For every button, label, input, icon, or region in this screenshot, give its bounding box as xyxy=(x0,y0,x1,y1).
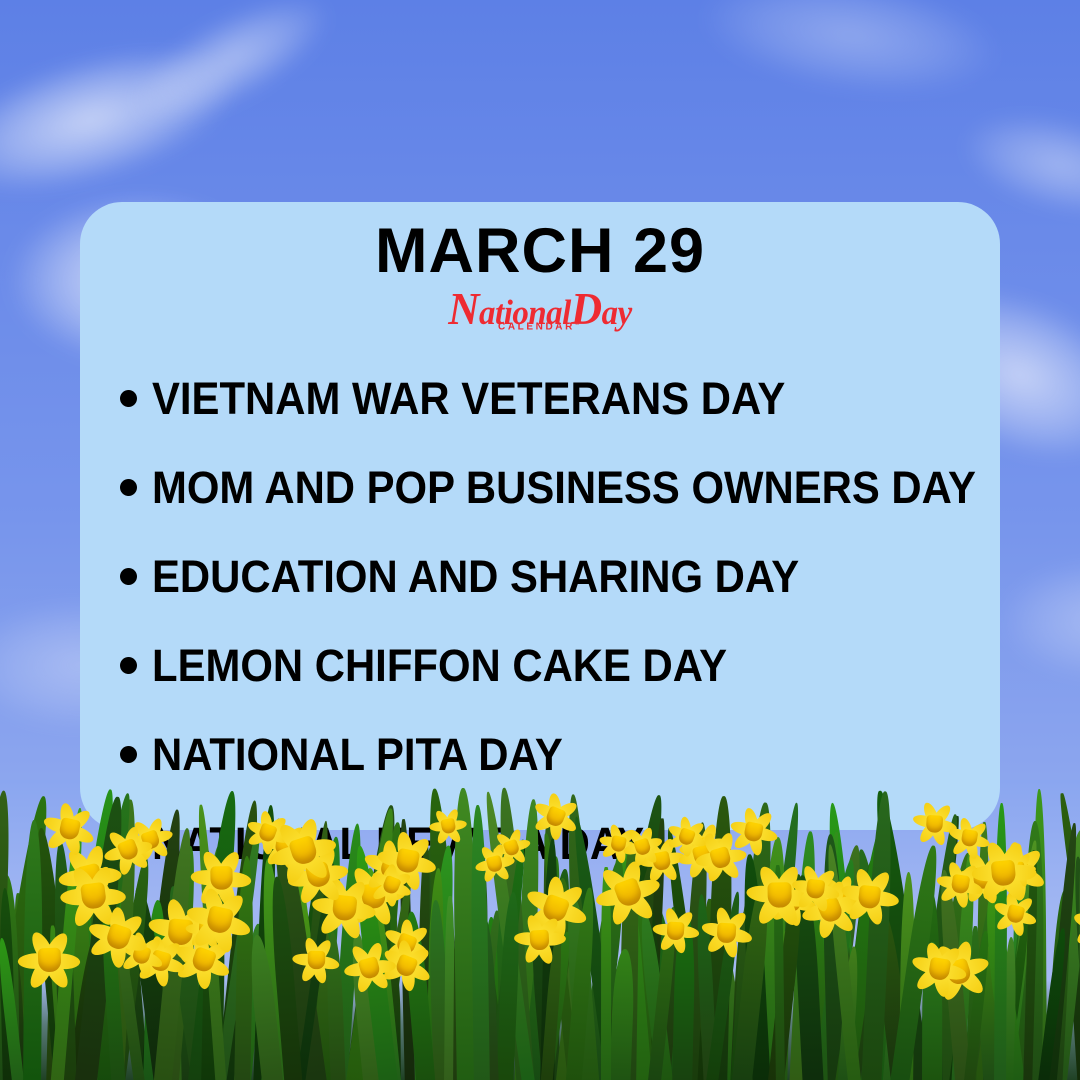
day-label: EDUCATION AND SHARING DAY xyxy=(152,554,799,599)
logo-subtitle-text: CALENDAR xyxy=(498,321,575,332)
daffodil-flower xyxy=(507,908,572,973)
day-label: LEMON CHIFFON CAKE DAY xyxy=(152,643,727,688)
list-item[interactable]: EDUCATION AND SHARING DAY xyxy=(120,532,1000,621)
list-item[interactable]: LEMON CHIFFON CAKE DAY xyxy=(120,621,1000,710)
daffodil-flower xyxy=(786,859,845,918)
trumpet-cup xyxy=(666,921,684,940)
page-title: MARCH 29 xyxy=(80,218,1000,284)
trumpet-cup xyxy=(307,951,324,969)
bullet-icon xyxy=(120,390,137,407)
list-item[interactable]: VIETNAM WAR VETERANS DAY xyxy=(120,354,1000,443)
bullet-icon xyxy=(120,746,137,763)
day-label: VIETNAM WAR VETERANS DAY xyxy=(152,376,785,421)
bullet-icon xyxy=(120,657,137,674)
bullet-icon xyxy=(120,479,137,496)
list-item[interactable]: MOM AND POP BUSINESS OWNERS DAY xyxy=(120,443,1000,532)
daffodil-field xyxy=(0,780,1080,1080)
day-label: NATIONAL PITA DAY xyxy=(152,732,563,777)
day-label: MOM AND POP BUSINESS OWNERS DAY xyxy=(152,465,976,510)
poster-canvas: MARCH 29 NationalDay CALENDAR® VIETNAM W… xyxy=(0,0,1080,1080)
content-card: MARCH 29 NationalDay CALENDAR® VIETNAM W… xyxy=(80,202,1000,830)
daffodil-flower xyxy=(899,928,981,1010)
list-item[interactable]: NATIONAL PITA DAY xyxy=(120,710,1000,799)
daffodil-flower xyxy=(430,808,468,846)
daffodil-flower xyxy=(649,904,702,957)
trumpet-cup xyxy=(857,884,881,909)
national-day-calendar-logo: NationalDay CALENDAR® xyxy=(80,288,1000,340)
logo-subtitle: CALENDAR® xyxy=(430,321,650,332)
bullet-icon xyxy=(120,568,137,585)
daffodil-flower xyxy=(723,801,786,864)
registered-trademark-icon: ® xyxy=(575,321,582,327)
daffodil-flower xyxy=(3,914,96,1007)
daffodil-flower xyxy=(952,820,1057,925)
